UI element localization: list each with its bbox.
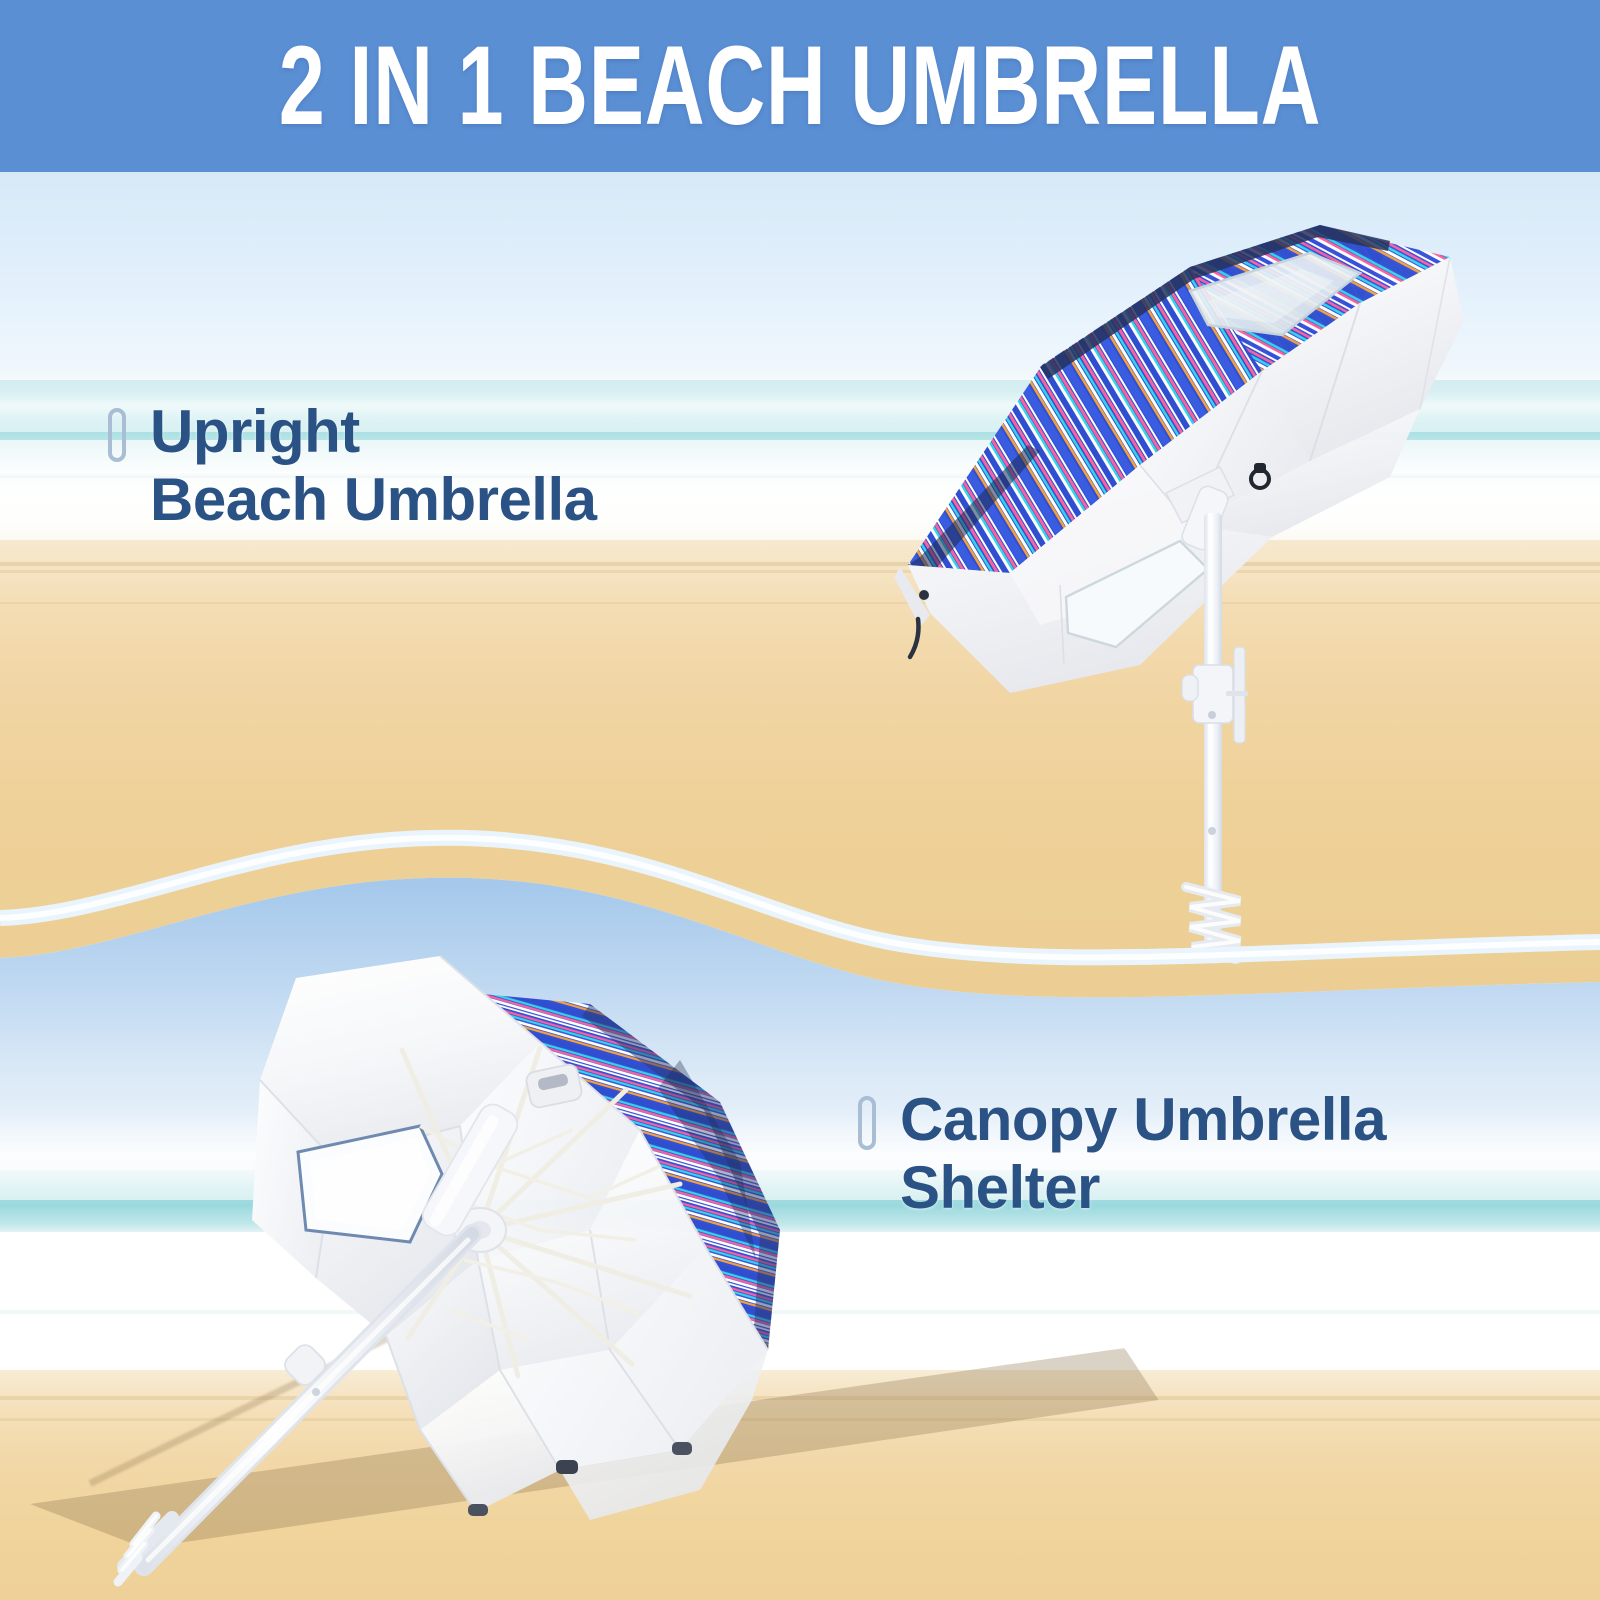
- infographic-canvas: 2 IN 1 BEACH UMBRELLA Upright Beach Umbr…: [0, 0, 1600, 1600]
- capsule-bullet-icon: [108, 408, 126, 462]
- callout-upright-beach-umbrella: Upright Beach Umbrella: [108, 398, 597, 534]
- callout-upright-label: Upright Beach Umbrella: [150, 398, 597, 534]
- canopy-umbrella-illustration: [120, 930, 910, 1590]
- header-banner: 2 IN 1 BEACH UMBRELLA: [0, 0, 1600, 172]
- pole-rivet: [1208, 827, 1216, 835]
- capsule-bullet-icon: [858, 1096, 876, 1150]
- page-title: 2 IN 1 BEACH UMBRELLA: [208, 30, 1392, 142]
- callout-canopy-label: Canopy Umbrella Shelter: [900, 1086, 1386, 1222]
- sand-screw-anchor: [1186, 885, 1240, 959]
- upright-umbrella-illustration: [890, 195, 1490, 955]
- callout-canopy-umbrella-shelter: Canopy Umbrella Shelter: [858, 1086, 1386, 1222]
